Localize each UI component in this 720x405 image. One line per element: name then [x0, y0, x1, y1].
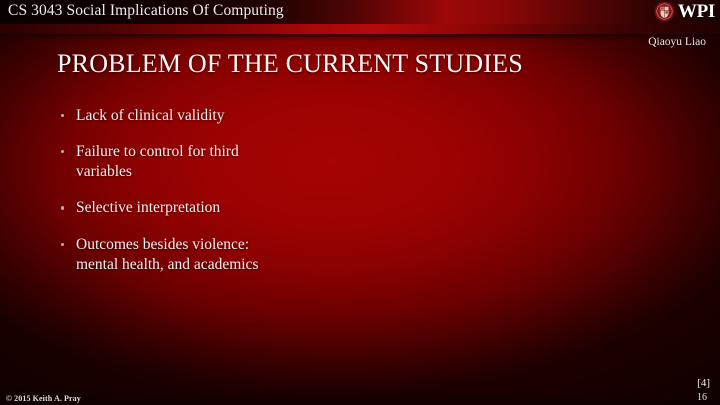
- list-item: Outcomes besides violence: mental health…: [58, 235, 520, 275]
- footer-bar: [0, 391, 720, 405]
- page-number: 16: [697, 392, 707, 403]
- course-title: CS 3043 Social Implications Of Computing: [8, 2, 284, 20]
- wpi-seal-icon: [654, 1, 675, 22]
- wpi-logo: WPI: [654, 1, 715, 22]
- bullet-dot-icon: [61, 150, 64, 153]
- bullet-text: Failure to control for third: [76, 143, 239, 160]
- wpi-wordmark: WPI: [678, 2, 715, 21]
- bullet-text: Selective interpretation: [76, 199, 220, 216]
- presentation-slide: CS 3043 Social Implications Of Computing…: [0, 0, 720, 405]
- bullet-text-line2: variables: [76, 162, 520, 182]
- copyright-notice: © 2015 Keith A. Pray: [6, 394, 81, 403]
- header-accent-stripe: [0, 24, 720, 34]
- bullet-dot-icon: [61, 114, 64, 117]
- header-shadow-stripe: [0, 34, 720, 41]
- bullet-list: Lack of clinical validity Failure to con…: [58, 106, 520, 275]
- bullet-text-line2: mental health, and academics: [76, 255, 520, 275]
- list-item: Failure to control for third variables: [58, 142, 520, 182]
- slide-title: PROBLEM OF THE CURRENT STUDIES: [57, 49, 660, 78]
- presenter-name: Qiaoyu Liao: [648, 36, 706, 48]
- list-item: Selective interpretation: [58, 198, 520, 218]
- list-item: Lack of clinical validity: [58, 106, 520, 126]
- bullet-text: Lack of clinical validity: [76, 107, 224, 124]
- citation-reference: [4]: [697, 377, 710, 389]
- bullet-dot-icon: [61, 206, 64, 209]
- bullet-dot-icon: [61, 243, 64, 246]
- bullet-text: Outcomes besides violence:: [76, 236, 249, 253]
